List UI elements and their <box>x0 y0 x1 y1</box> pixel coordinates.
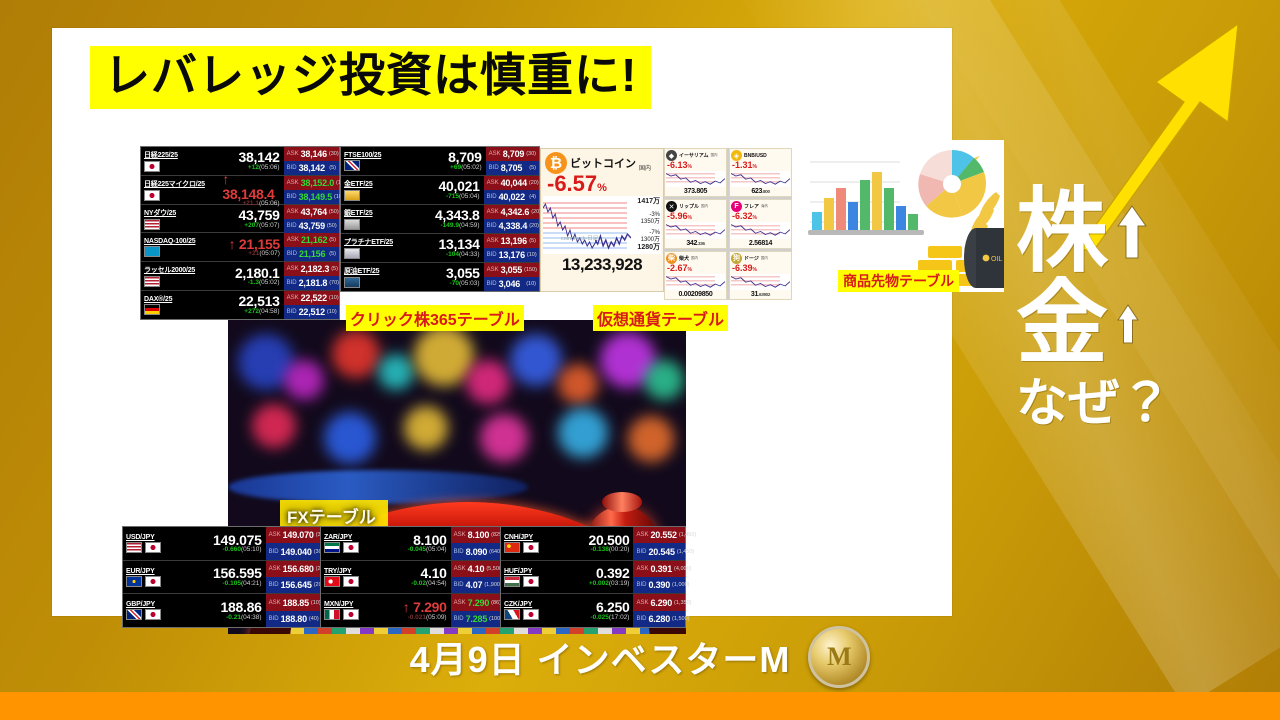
bid-value: 4,338.4 <box>499 221 528 231</box>
row-ask-bid[interactable]: ASK40,044(20)BID40,022(4) <box>484 176 539 204</box>
flag-de <box>144 304 160 315</box>
page-title: レバレッジ投資は慎重に! <box>90 46 651 109</box>
crypto-cell[interactable]: 狗ドージ国内-6.39%31.63902 <box>729 251 792 300</box>
bid-label: BID <box>287 309 297 315</box>
bitcoin-chart-watermark: coincheck-日足 <box>561 234 598 242</box>
row-price: 40,021-715(05:04) <box>418 176 483 204</box>
bid-cell[interactable]: BID43,759(50) <box>284 219 339 233</box>
bid-cell[interactable]: BID2,181.8(70) <box>284 276 339 290</box>
crypto-table[interactable]: ◆イーサリアム国内-6.13%373.805◈BNB/USD-1.31%623.… <box>664 148 792 300</box>
crypto-name: 柴犬 <box>679 255 689 262</box>
row-price: 13,134-104(04:33) <box>418 234 483 262</box>
row-price: ↑ 21,155+21(05:07) <box>219 233 284 261</box>
ask-qty: (1,350) <box>674 600 691 606</box>
bid-cell[interactable]: BID156.645(20) <box>266 577 321 593</box>
ask-qty: (4,000) <box>674 566 691 572</box>
row-price: 156.595-0.105(04:21) <box>200 561 265 594</box>
bitcoin-market: 国内 <box>639 163 651 174</box>
table-row[interactable]: NASDAQ-100/25↑ 21,155+21(05:07)ASK21,162… <box>141 233 339 262</box>
bid-label: BID <box>269 582 279 588</box>
crypto-value: 31.63902 <box>731 291 790 298</box>
side-label-gold: 金 <box>1016 278 1108 370</box>
crypto-sparkline <box>666 171 725 187</box>
slide-white-card: レバレッジ投資は慎重に! 日経225/2538,142+12(05:06)ASK… <box>52 28 952 616</box>
bitcoin-price: 13,233,928 <box>541 254 663 275</box>
row-symbol: DAX®/25 <box>141 291 218 319</box>
price-value: 38,142 <box>239 150 280 165</box>
crypto-market: 国内 <box>711 153 718 158</box>
symbol-label: CZK/JPY <box>504 601 570 608</box>
stock365-table-left[interactable]: 日経225/2538,142+12(05:06)ASK38,146(30)BID… <box>140 146 340 320</box>
bid-value: 21,156 <box>299 249 325 259</box>
price-value: 8.100 <box>413 533 447 548</box>
ask-label: ASK <box>487 209 499 215</box>
table-row[interactable]: ラッセル2000/252,180.1-1.3(05:02)ASK2,182.3(… <box>141 262 339 291</box>
bid-value: 0.390 <box>649 580 671 590</box>
row-ask-bid[interactable]: ASK38,146(30)BID38,142(5) <box>284 147 339 175</box>
symbol-label: 銀ETF/25 <box>344 208 415 218</box>
bid-qty: (5) <box>329 251 336 257</box>
crypto-name: フレア <box>744 203 759 210</box>
flag-jp <box>145 576 161 587</box>
ask-label: ASK <box>487 267 499 273</box>
table-row[interactable]: TRY/JPY4.10-0.02(04:54)ASK4.10(5,500)BID… <box>321 561 501 595</box>
bid-qty: (5) <box>329 165 336 171</box>
price-delta: -0.138(00:20) <box>590 547 629 554</box>
flag-group <box>126 576 197 587</box>
bid-label: BID <box>487 252 497 258</box>
crypto-cell[interactable]: ◆イーサリアム国内-6.13%373.805 <box>664 148 727 197</box>
table-row[interactable]: USD/JPY149.075-0.660(05:10)ASK149.070(30… <box>123 527 321 561</box>
bid-cell[interactable]: BID38,142(5) <box>284 161 339 175</box>
ask-label: ASK <box>287 295 299 301</box>
ask-value: 13,196 <box>501 236 527 246</box>
side-label-why: なぜ？ <box>1016 376 1266 433</box>
table-row[interactable]: CNH/JPY20.500-0.138(00:20)ASK20.552(1,45… <box>501 527 685 561</box>
up-arrow-icon-small <box>1116 303 1140 345</box>
row-ask-bid[interactable]: ASK8,709(30)BID8,705(5) <box>486 147 539 175</box>
bid-qty: (1,000) <box>672 582 689 588</box>
row-price: ↑ 38,148.4+21.1(05:06) <box>218 176 283 204</box>
symbol-label: USD/JPY <box>126 534 197 541</box>
ask-label: ASK <box>489 151 501 157</box>
ask-value: 38,146 <box>301 149 327 159</box>
table-row[interactable]: 日経225マイクロ/25↑ 38,148.4+21.1(05:06)ASK38,… <box>141 176 339 205</box>
bid-label: BID <box>636 582 646 588</box>
table-row[interactable]: 金ETF/2540,021-715(05:04)ASK40,044(20)BID… <box>341 176 539 205</box>
bid-value: 4.07 <box>466 580 483 590</box>
ask-qty: (150) <box>524 267 537 273</box>
side-row-stocks: 株 <box>1016 186 1266 278</box>
row-ask-bid[interactable]: ASK4,342.6(20)BID4,338.4(20) <box>484 205 539 233</box>
price-delta: +0.002(03:19) <box>589 581 630 588</box>
ask-value: 20.552 <box>651 530 677 540</box>
crypto-change: -6.13% <box>667 161 725 170</box>
price-delta: -104(04:33) <box>446 252 480 259</box>
row-symbol: USD/JPY <box>123 527 200 560</box>
bid-value: 40,022 <box>499 192 525 202</box>
ask-cell[interactable]: ASK13,196(5) <box>484 234 539 248</box>
price-value: 3,055 <box>446 266 480 281</box>
crypto-value: 623.800 <box>731 188 790 195</box>
bid-cell[interactable]: BID8,705(5) <box>486 161 539 175</box>
flag-jp <box>343 609 359 620</box>
flag-group <box>126 542 197 553</box>
bid-label: BID <box>487 223 497 229</box>
price-delta: -0.105(04:21) <box>223 581 262 588</box>
flag-za <box>324 542 340 553</box>
row-ask-bid[interactable]: ASK0.391(4,000)BID0.390(1,000) <box>633 561 685 594</box>
symbol-label: DAX®/25 <box>144 296 215 303</box>
row-ask-bid[interactable]: ASK20.552(1,450)BID20.545(1,450) <box>633 527 685 560</box>
bid-value: 3,046 <box>499 279 521 289</box>
caption-stock365-table: クリック株365テーブル <box>346 305 524 331</box>
row-symbol: TRY/JPY <box>321 561 391 594</box>
ask-cell[interactable]: ASK188.85(10) <box>266 594 321 610</box>
flag-group <box>144 276 215 287</box>
flag-group <box>144 190 215 201</box>
bid-label: BID <box>636 549 646 555</box>
table-row[interactable]: FTSE100/258,709+69(05:02)ASK8,709(30)BID… <box>341 147 539 176</box>
crypto-value: 2.56814 <box>731 240 790 247</box>
symbol-label: 日経225/25 <box>144 150 215 160</box>
crypto-sparkline <box>666 274 725 290</box>
ask-cell[interactable]: ASK38,152.0(100) <box>284 176 339 190</box>
ask-cell[interactable]: ASK6.290(1,350) <box>633 594 685 610</box>
flag-eu <box>126 576 142 587</box>
row-symbol: NASDAQ-100/25 <box>141 233 219 261</box>
symbol-label: プラチナETF/25 <box>344 237 415 247</box>
ask-cell[interactable]: ASK149.070(300) <box>266 527 321 543</box>
svg-text:OIL: OIL <box>991 256 1002 263</box>
crypto-sparkline <box>731 222 790 238</box>
price-value: 6.250 <box>596 600 630 615</box>
ask-label: ASK <box>454 566 466 572</box>
bid-label: BID <box>454 616 464 622</box>
bid-label: BID <box>454 582 464 588</box>
ask-cell[interactable]: ASK22,522(10) <box>284 291 339 305</box>
bid-value: 22,512 <box>299 307 325 317</box>
row-symbol: 日経225/25 <box>141 147 218 175</box>
bid-value: 20.545 <box>649 547 675 557</box>
symbol-label: HUF/JPY <box>504 568 570 575</box>
ask-qty: (5) <box>331 266 338 272</box>
shiba-icon: 柴 <box>666 253 677 264</box>
ask-label: ASK <box>287 209 299 215</box>
price-delta: +272(04:58) <box>244 309 279 316</box>
ask-label: ASK <box>636 600 648 606</box>
bid-value: 2,181.8 <box>299 278 328 288</box>
row-price: 4,343.8-149.9(04:59) <box>418 205 483 233</box>
bid-label: BID <box>487 194 497 200</box>
row-price: 43,759+207(05:07) <box>218 205 283 233</box>
ask-cell[interactable]: ASK7.290(86) <box>451 594 501 610</box>
row-symbol: NYダウ/25 <box>141 205 218 233</box>
ask-cell[interactable]: ASK156.680(220) <box>266 561 321 577</box>
ask-label: ASK <box>454 600 466 606</box>
bid-cell[interactable]: BID149.040(300) <box>266 543 321 559</box>
price-delta: -715(05:04) <box>446 194 480 201</box>
symbol-label: CNH/JPY <box>504 534 570 541</box>
row-symbol: 原油ETF/25 <box>341 263 418 291</box>
ask-value: 22,522 <box>301 293 327 303</box>
price-value: 13,134 <box>439 237 480 252</box>
row-ask-bid[interactable]: ASK156.680(220)BID156.645(20) <box>266 561 321 594</box>
ask-qty: (30) <box>526 151 536 157</box>
symbol-label: NYダウ/25 <box>144 208 215 218</box>
crypto-name: BNB/USD <box>744 153 767 159</box>
crypto-market: 海外 <box>761 204 768 209</box>
crypto-cell[interactable]: Fフレア海外-6.32%2.56814 <box>729 199 792 248</box>
coin-letter: M <box>827 642 852 672</box>
flag-group <box>144 304 215 315</box>
price-value: 8,709 <box>448 150 482 165</box>
flag-us <box>144 219 160 230</box>
ask-qty: (5) <box>529 238 536 244</box>
row-symbol: 金ETF/25 <box>341 176 418 204</box>
bid-label: BID <box>287 280 297 286</box>
flag-group <box>504 609 570 620</box>
table-row[interactable]: 原油ETF/253,055-70(05:03)ASK3,055(150)BID3… <box>341 263 539 291</box>
ask-cell[interactable]: ASK20.552(1,450) <box>633 527 685 543</box>
crypto-cell[interactable]: ◈BNB/USD-1.31%623.800 <box>729 148 792 197</box>
crypto-header: 狗ドージ国内 <box>731 253 790 264</box>
up-arrow-icon <box>1116 204 1148 260</box>
price-value: ↑ 21,155 <box>229 237 280 252</box>
flag-mx <box>324 609 340 620</box>
flag-jp <box>145 542 161 553</box>
ask-qty: (30) <box>329 151 339 157</box>
row-ask-bid[interactable]: ASK21,162(5)BID21,156(5) <box>284 233 339 261</box>
ask-qty: (10) <box>329 295 339 301</box>
symbol-label: 日経225マイクロ/25 <box>144 179 215 189</box>
table-row[interactable]: プラチナETF/2513,134-104(04:33)ASK13,196(5)B… <box>341 234 539 263</box>
bid-cell[interactable]: BID40,022(4) <box>484 190 539 204</box>
ask-cell[interactable]: ASK4.10(5,500) <box>451 561 501 577</box>
price-value: 22,513 <box>239 294 280 309</box>
flag-group <box>144 219 215 230</box>
row-ask-bid[interactable]: ASK22,522(10)BID22,512(10) <box>284 291 339 319</box>
table-row[interactable]: HUF/JPY0.392+0.002(03:19)ASK0.391(4,000)… <box>501 561 685 595</box>
row-ask-bid[interactable]: ASK13,196(5)BID13,176(10) <box>484 234 539 262</box>
fx-table-col2[interactable]: ZAR/JPY8.100-0.045(05:04)ASK8.100(825)BI… <box>320 526 502 628</box>
slide-canvas: レバレッジ投資は慎重に! 日経225/2538,142+12(05:06)ASK… <box>0 0 1280 720</box>
symbol-label: EUR/JPY <box>126 568 197 575</box>
bitcoin-name: ビットコイン <box>570 155 636 171</box>
price-value: 156.595 <box>213 566 262 581</box>
table-row[interactable]: ZAR/JPY8.100-0.045(05:04)ASK8.100(825)BI… <box>321 527 501 561</box>
row-ask-bid[interactable]: ASK149.070(300)BID149.040(300) <box>266 527 321 560</box>
crypto-name: リップル <box>679 203 699 210</box>
ask-label: ASK <box>636 532 648 538</box>
row-price: 3,055-70(05:03) <box>418 263 483 291</box>
row-price: 0.392+0.002(03:19) <box>573 561 634 594</box>
flag-jp <box>144 161 160 172</box>
side-label-stocks: 株 <box>1016 186 1108 278</box>
row-price: 2,180.1-1.3(05:02) <box>218 262 283 290</box>
bid-qty: (20) <box>529 223 539 229</box>
price-value: ↑ 38,148.4 <box>222 172 279 201</box>
bid-label: BID <box>287 251 297 257</box>
crypto-name: ドージ <box>744 255 759 262</box>
bid-label: BID <box>287 194 297 200</box>
bid-cell[interactable]: BID4.07(1,900) <box>451 577 501 593</box>
ask-cell[interactable]: ASK38,146(30) <box>284 147 339 161</box>
doge-icon: 狗 <box>731 253 742 264</box>
flag-group <box>126 609 197 620</box>
ask-value: 40,044 <box>501 178 527 188</box>
flag-jp <box>145 609 161 620</box>
bid-label: BID <box>269 616 279 622</box>
bid-qty: (40) <box>309 616 319 622</box>
flag-group <box>144 246 216 257</box>
bid-cell[interactable]: BID4,338.4(20) <box>484 219 539 233</box>
price-value: 0.392 <box>596 566 630 581</box>
ask-cell[interactable]: ASK21,162(5) <box>284 233 339 247</box>
bid-cell[interactable]: BID22,512(10) <box>284 305 339 319</box>
row-price: 149.075-0.660(05:10) <box>200 527 265 560</box>
ask-qty: (50) <box>329 209 339 215</box>
price-value: 149.075 <box>213 533 262 548</box>
bid-cell[interactable]: BID8.090(640) <box>451 543 501 559</box>
price-value: 188.86 <box>221 600 262 615</box>
ask-value: 3,055 <box>501 265 523 275</box>
flag-tr <box>324 576 340 587</box>
flag-jp <box>343 576 359 587</box>
crypto-change: -6.32% <box>732 212 790 221</box>
bid-value: 38,142 <box>299 163 325 173</box>
ask-qty: (1,450) <box>679 532 696 538</box>
flag-gold <box>344 190 360 201</box>
stock365-table-right[interactable]: FTSE100/258,709+69(05:02)ASK8,709(30)BID… <box>340 146 540 292</box>
footer-date-author: 4月9日 インベスターM <box>410 631 791 683</box>
price-value: 43,759 <box>239 208 280 223</box>
row-ask-bid[interactable]: ASK43,764(50)BID43,759(50) <box>284 205 339 233</box>
bid-value: 8.090 <box>466 547 488 557</box>
table-row[interactable]: 銀ETF/254,343.8-149.9(04:59)ASK4,342.6(20… <box>341 205 539 234</box>
symbol-label: NASDAQ-100/25 <box>144 238 216 245</box>
ask-value: 4.10 <box>468 564 485 574</box>
row-ask-bid[interactable]: ASK3,055(150)BID3,046(10) <box>484 263 539 291</box>
ask-cell[interactable]: ASK40,044(20) <box>484 176 539 190</box>
ask-value: 21,162 <box>301 235 327 245</box>
symbol-label: MXN/JPY <box>324 601 388 608</box>
ask-label: ASK <box>287 266 299 272</box>
ask-cell[interactable]: ASK8,709(30) <box>486 147 539 161</box>
bid-value: 13,176 <box>499 250 525 260</box>
fx-table-col3[interactable]: CNH/JPY20.500-0.138(00:20)ASK20.552(1,45… <box>500 526 686 628</box>
crypto-cell[interactable]: ✕リップル国内-5.96%342.336 <box>664 199 727 248</box>
ask-value: 8.100 <box>468 530 490 540</box>
ask-label: ASK <box>487 180 499 186</box>
price-value: ↑ 7.290 <box>403 600 447 615</box>
ask-cell[interactable]: ASK0.391(4,000) <box>633 561 685 577</box>
ask-value: 6.290 <box>651 598 673 608</box>
bid-qty: (5) <box>529 165 536 171</box>
bitcoin-chart: 1417万 -3%1350万 -7%1300万 1280万 coincheck-… <box>543 196 661 254</box>
crypto-sparkline <box>731 171 790 187</box>
bid-label: BID <box>487 281 497 287</box>
ask-cell[interactable]: ASK43,764(50) <box>284 205 339 219</box>
channel-logo-coin: M <box>808 626 870 688</box>
table-row[interactable]: DAX®/2522,513+272(04:58)ASK22,522(10)BID… <box>141 291 339 319</box>
ask-value: 0.391 <box>651 564 673 574</box>
bid-qty: (50) <box>327 223 337 229</box>
crypto-market: 国内 <box>701 204 708 209</box>
ask-label: ASK <box>269 566 281 572</box>
bid-cell[interactable]: BID38,149.5(100) <box>284 190 339 204</box>
flag-group <box>344 277 415 288</box>
bitcoin-panel[interactable]: ₿ ビットコイン 国内 -6.57% 1417万 -3%1350万 -7%130… <box>540 148 664 292</box>
flag-jp <box>343 542 359 553</box>
ask-value: 7.290 <box>468 598 490 608</box>
bid-cell[interactable]: BID20.545(1,450) <box>633 543 685 559</box>
bid-label: BID <box>489 165 499 171</box>
crypto-header: 柴柴犬国内 <box>666 253 725 264</box>
bid-cell[interactable]: BID21,156(5) <box>284 247 339 261</box>
price-value: 20.500 <box>588 533 629 548</box>
ask-cell[interactable]: ASK4,342.6(20) <box>484 205 539 219</box>
bid-cell[interactable]: BID0.390(1,000) <box>633 577 685 593</box>
ask-value: 156.680 <box>283 564 314 574</box>
price-value: 40,021 <box>439 179 480 194</box>
table-row[interactable]: NYダウ/2543,759+207(05:07)ASK43,764(50)BID… <box>141 205 339 234</box>
row-ask-bid[interactable]: ASK4.10(5,500)BID4.07(1,900) <box>451 561 501 594</box>
row-symbol: 銀ETF/25 <box>341 205 418 233</box>
ask-qty: (20) <box>529 180 539 186</box>
bid-qty: (10) <box>527 252 537 258</box>
flag-group <box>324 609 388 620</box>
row-symbol: CNH/JPY <box>501 527 573 560</box>
row-symbol: ラッセル2000/25 <box>141 262 218 290</box>
ask-cell[interactable]: ASK3,055(150) <box>484 263 539 277</box>
bid-value: 8,705 <box>501 163 523 173</box>
row-ask-bid[interactable]: ASK8.100(825)BID8.090(640) <box>451 527 501 560</box>
bid-qty: (1,450) <box>677 549 694 555</box>
table-row[interactable]: EUR/JPY156.595-0.105(04:21)ASK156.680(22… <box>123 561 321 595</box>
flag-uk <box>344 160 360 171</box>
ask-label: ASK <box>287 151 299 157</box>
price-delta: +207(05:07) <box>244 223 279 230</box>
ask-cell[interactable]: ASK8.100(825) <box>451 527 501 543</box>
crypto-market: 国内 <box>691 256 698 261</box>
bid-value: 43,759 <box>299 221 325 231</box>
bid-cell[interactable]: BID3,046(10) <box>484 277 539 291</box>
ask-value: 188.85 <box>283 598 309 608</box>
row-ask-bid[interactable]: ASK2,182.3(5)BID2,181.8(70) <box>284 262 339 290</box>
row-ask-bid[interactable]: ASK38,152.0(100)BID38,149.5(100) <box>284 176 339 204</box>
row-price: 22,513+272(04:58) <box>218 291 283 319</box>
footer-bar: 4月9日 インベスターM M <box>0 622 1280 692</box>
bid-label: BID <box>454 549 464 555</box>
crypto-value: 342.336 <box>666 240 725 247</box>
row-symbol: HUF/JPY <box>501 561 573 594</box>
crypto-cell[interactable]: 柴柴犬国内-2.67%0.00209850 <box>664 251 727 300</box>
fx-table-col1[interactable]: USD/JPY149.075-0.660(05:10)ASK149.070(30… <box>122 526 322 628</box>
bid-value: 156.645 <box>281 580 312 590</box>
symbol-label: 金ETF/25 <box>344 179 415 189</box>
bid-qty: (10) <box>526 281 536 287</box>
price-value: 2,180.1 <box>235 266 280 281</box>
crypto-change: -1.31% <box>732 161 790 170</box>
crypto-value: 373.805 <box>666 188 725 195</box>
bid-cell[interactable]: BID13,176(10) <box>484 248 539 262</box>
bid-qty: (10) <box>327 309 337 315</box>
ask-cell[interactable]: ASK2,182.3(5) <box>284 262 339 276</box>
side-copy: 株 金 なぜ？ <box>1016 186 1266 433</box>
row-price: 20.500-0.138(00:20) <box>573 527 634 560</box>
row-symbol: ZAR/JPY <box>321 527 391 560</box>
